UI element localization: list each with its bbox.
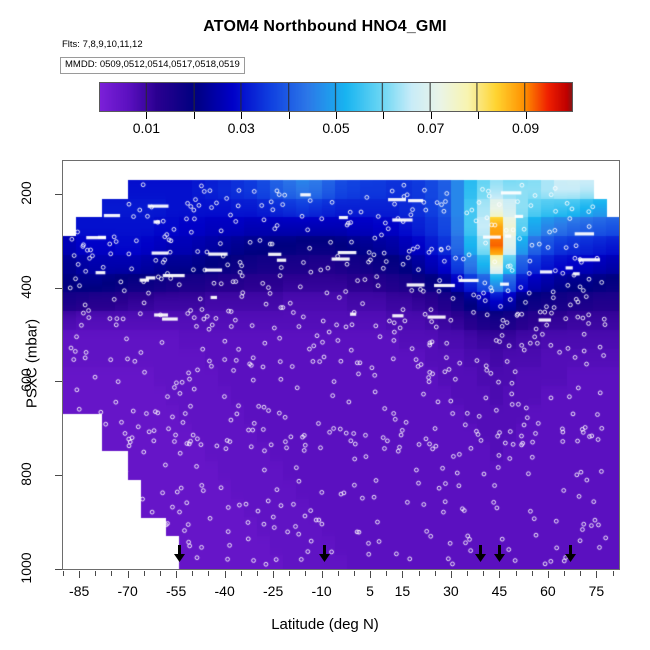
x-axis-tick <box>225 571 226 578</box>
x-axis-minor-tick <box>208 571 209 576</box>
x-axis-minor-tick <box>386 571 387 576</box>
page-title: ATOM4 Northbound HNO4_GMI <box>0 18 650 36</box>
x-axis-tick <box>322 571 323 578</box>
x-axis-label: -40 <box>215 583 235 599</box>
plot-area <box>62 160 620 570</box>
x-axis-tick <box>79 571 80 578</box>
y-axis-title: PSXC (mbar) <box>24 294 41 434</box>
y-axis-tick <box>55 569 62 570</box>
x-axis-minor-tick <box>95 571 96 576</box>
x-axis-minor-tick <box>289 571 290 576</box>
x-axis-minor-tick <box>111 571 112 576</box>
x-axis-title: Latitude (deg N) <box>0 616 650 633</box>
x-axis-minor-tick <box>241 571 242 576</box>
x-axis-tick <box>128 571 129 578</box>
x-axis-minor-tick <box>483 571 484 576</box>
flights-annotation: Flts: 7,8,9,10,11,12 <box>62 39 143 50</box>
x-axis-minor-tick <box>338 571 339 576</box>
y-axis-label: 1000 <box>18 538 34 598</box>
x-axis-minor-tick <box>305 571 306 576</box>
colorbar-label: 0.01 <box>133 120 160 136</box>
colorbar-tick <box>289 112 290 119</box>
mmdd-annotation: MMDD: 0509,0512,0514,0517,0518,0519 <box>60 57 245 74</box>
y-axis-label: 200 <box>18 163 34 223</box>
colorbar-ticks <box>99 112 573 120</box>
x-axis-minor-tick <box>63 571 64 576</box>
x-axis-minor-tick <box>532 571 533 576</box>
x-axis-minor-tick <box>613 571 614 576</box>
x-axis-label: 75 <box>589 583 605 599</box>
x-axis-tick <box>176 571 177 578</box>
colorbar-label: 0.07 <box>417 120 444 136</box>
colorbar-tick <box>194 112 195 119</box>
x-axis-tick <box>370 571 371 578</box>
y-axis-tick <box>55 288 62 289</box>
x-axis-minor-tick <box>435 571 436 576</box>
latitude-arrow-marker <box>318 545 331 563</box>
colorbar-label: 0.03 <box>228 120 255 136</box>
x-axis-label: -10 <box>311 583 331 599</box>
x-axis-minor-tick <box>516 571 517 576</box>
colorbar-tick <box>383 112 384 119</box>
x-axis-minor-tick <box>192 571 193 576</box>
x-axis-tick <box>273 571 274 578</box>
colorbar-tick <box>526 112 527 119</box>
colorbar-label: 0.05 <box>322 120 349 136</box>
x-axis-minor-tick <box>160 571 161 576</box>
colorbar-tick <box>478 112 479 119</box>
colorbar-tick-labels: 0.010.030.050.070.09 <box>0 120 650 140</box>
y-axis-tick <box>55 194 62 195</box>
x-axis-minor-tick <box>467 571 468 576</box>
latitude-arrow-marker <box>493 545 506 563</box>
colorbar-gradient <box>99 82 573 112</box>
latitude-arrow-marker <box>173 545 186 563</box>
colorbar-tick <box>146 112 147 119</box>
y-axis-tick <box>55 475 62 476</box>
x-axis-tick <box>451 571 452 578</box>
x-axis-label: 15 <box>395 583 411 599</box>
x-axis-minor-tick <box>419 571 420 576</box>
x-axis-minor-tick <box>564 571 565 576</box>
x-axis-tick <box>548 571 549 578</box>
colorbar-tick <box>336 112 337 119</box>
x-axis-label: -55 <box>166 583 186 599</box>
latitude-arrow-marker <box>474 545 487 563</box>
heatmap-canvas <box>63 161 619 569</box>
x-axis-label: -70 <box>118 583 138 599</box>
x-axis-label: 45 <box>492 583 508 599</box>
colorbar-tick <box>431 112 432 119</box>
x-axis-minor-tick <box>354 571 355 576</box>
x-axis-minor-tick <box>144 571 145 576</box>
x-axis-label: -85 <box>69 583 89 599</box>
colorbar <box>99 82 573 112</box>
y-axis-label: 800 <box>18 444 34 504</box>
x-axis-minor-tick <box>580 571 581 576</box>
y-axis-tick <box>55 381 62 382</box>
x-axis-tick <box>402 571 403 578</box>
plot-page: ATOM4 Northbound HNO4_GMI Flts: 7,8,9,10… <box>0 0 650 650</box>
colorbar-label: 0.09 <box>512 120 539 136</box>
x-axis-label: 30 <box>443 583 459 599</box>
x-axis-tick <box>499 571 500 578</box>
colorbar-tick <box>241 112 242 119</box>
x-axis-label: -25 <box>263 583 283 599</box>
latitude-arrow-marker <box>564 545 577 563</box>
x-axis-tick <box>596 571 597 578</box>
x-axis-minor-tick <box>257 571 258 576</box>
x-axis-label: 60 <box>540 583 556 599</box>
x-axis-label: 5 <box>366 583 374 599</box>
